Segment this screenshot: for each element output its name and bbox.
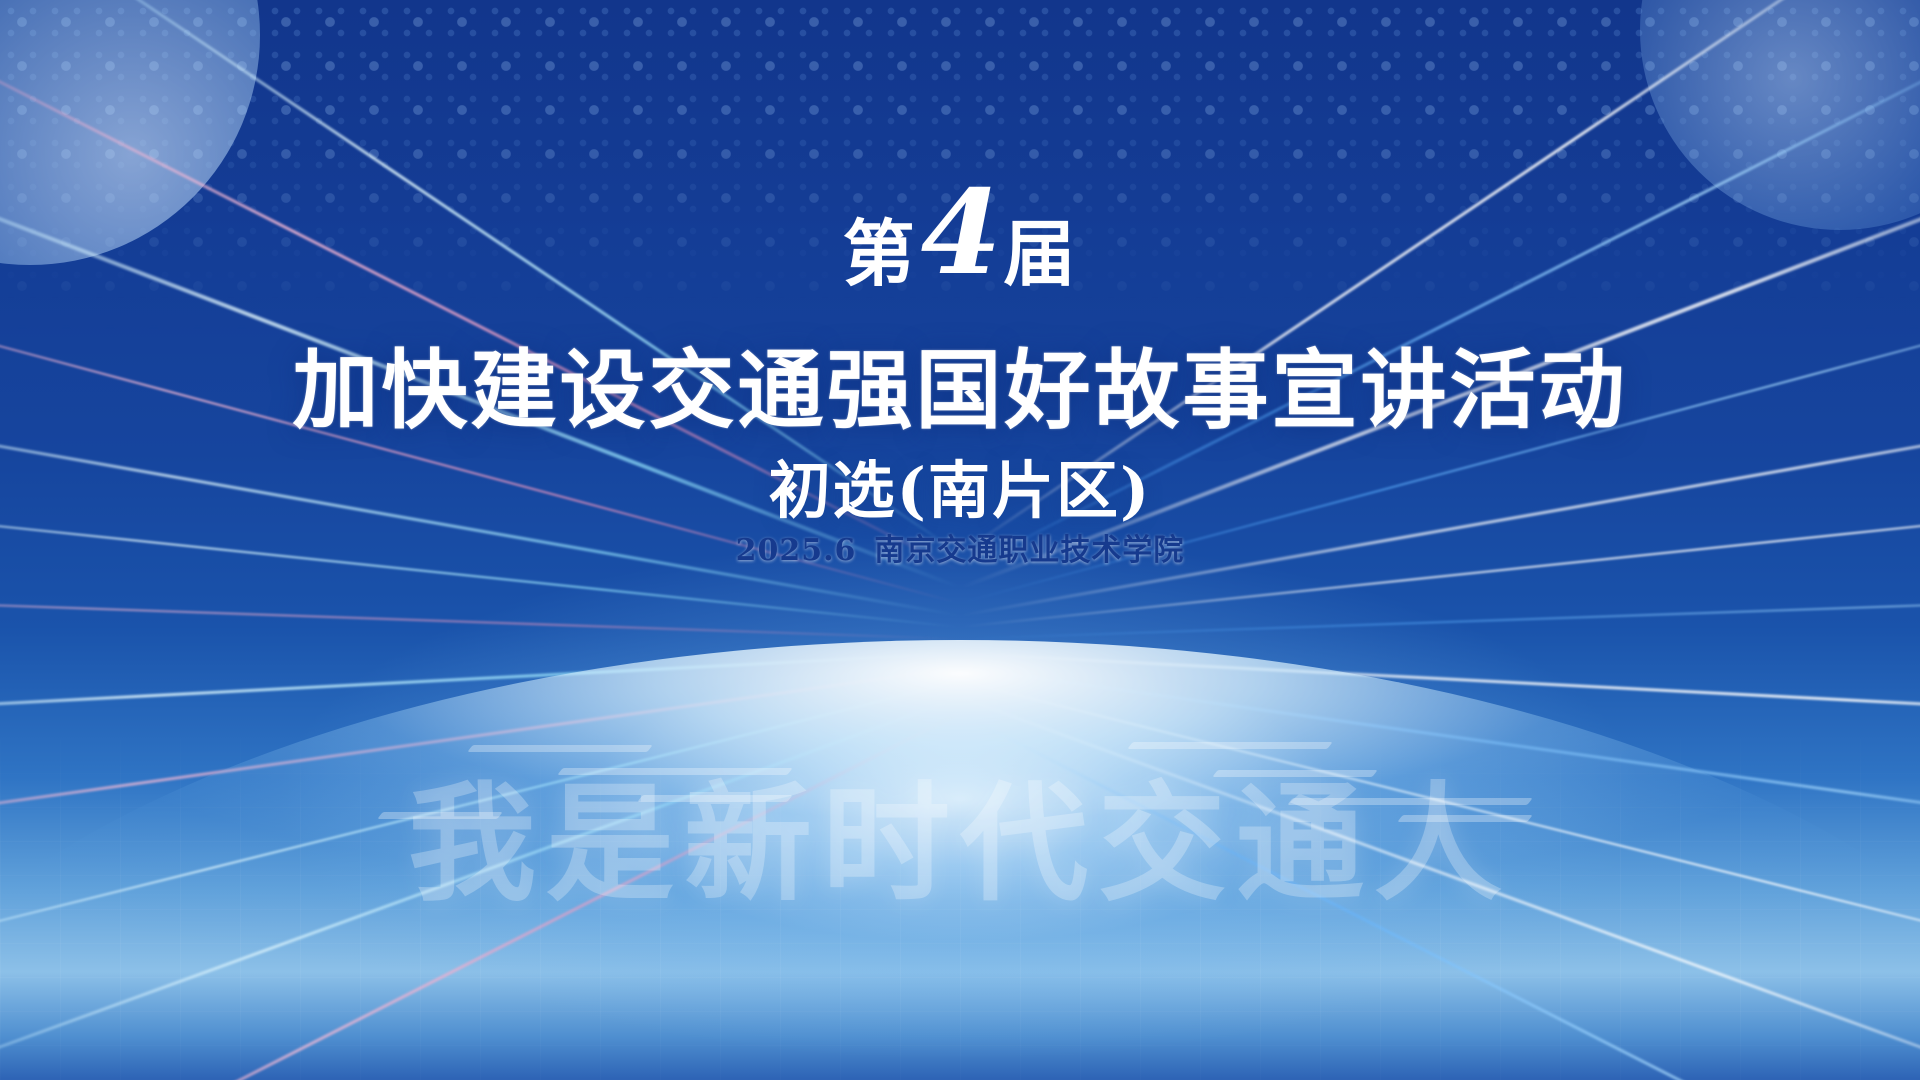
event-date: 2025.6 [736,533,857,568]
page-title: 加快建设交通强国好故事宣讲活动 [0,320,1920,445]
poster-subtitle: 初选(南片区) [0,440,1920,530]
event-poster: 我是新时代交通人 第4届 加快建设交通强国好故事宣讲活动 初选(南片区) 202… [0,0,1920,1080]
edition-line: 第4届 [0,175,1920,291]
poster-content: 第4届 加快建设交通强国好故事宣讲活动 初选(南片区) 2025.6南京交通职业… [0,0,1920,1080]
edition-suffix: 届 [1003,212,1077,296]
poster-meta-line: 2025.6南京交通职业技术学院 [0,525,1920,569]
event-venue: 南京交通职业技术学院 [874,533,1184,568]
edition-number: 4 [921,165,1000,301]
edition-prefix: 第 [843,212,917,296]
